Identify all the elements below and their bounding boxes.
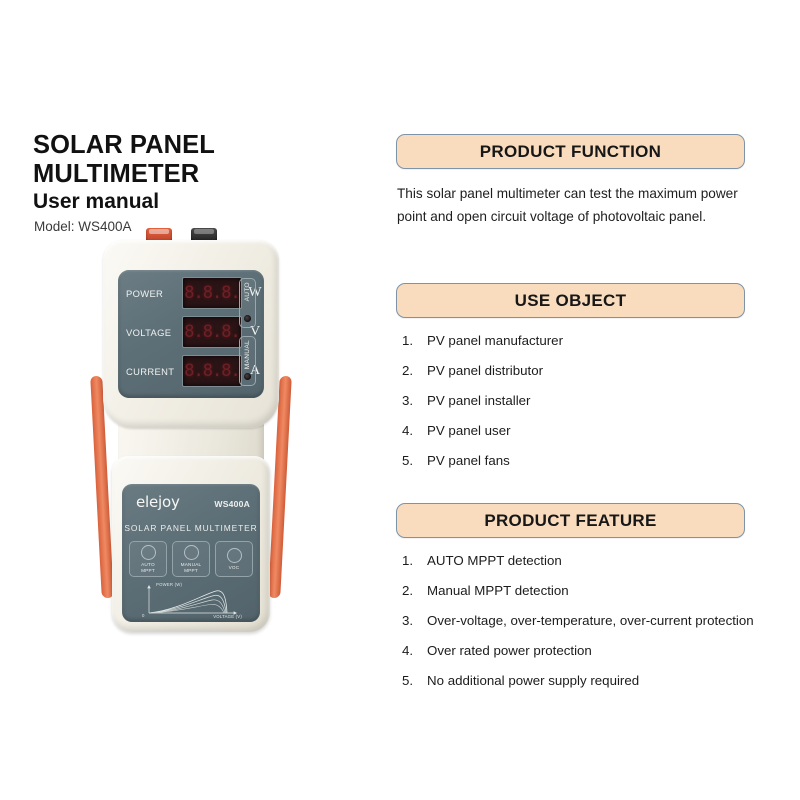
list-item-number: 3. (396, 391, 427, 412)
graph-y-axis-label: POWER (W) (156, 582, 182, 587)
section-header-product-feature-label: PRODUCT FEATURE (484, 511, 656, 531)
list-item: 1. PV panel manufacturer (396, 331, 788, 352)
list-item-text: Over-voltage, over-temperature, over-cur… (427, 611, 788, 632)
left-column: SOLAR PANEL MULTIMETER User manual Model… (0, 0, 390, 800)
graph-origin-label: 0 (142, 613, 144, 618)
list-item-text: AUTO MPPT detection (427, 551, 788, 572)
section-header-product-function: PRODUCT FUNCTION (396, 134, 745, 169)
list-item: 3. PV panel installer (396, 391, 788, 412)
led-display-power: 8.8.8. (182, 277, 242, 309)
list-item-text: PV panel user (427, 421, 788, 442)
mode-indicator-auto: AUTO (239, 278, 256, 328)
list-item: 4. Over rated power protection (396, 641, 788, 662)
list-item-text: Over rated power protection (427, 641, 788, 662)
page-subtitle: User manual (33, 190, 383, 214)
list-item-text: PV panel fans (427, 451, 788, 472)
mode-indicator-auto-label: AUTO (244, 282, 251, 301)
manual-led-icon (244, 373, 251, 380)
right-column: PRODUCT FUNCTION This solar panel multim… (396, 0, 800, 800)
led-digits-power: 8.8.8. (184, 285, 239, 302)
brand-logo: elejoy (136, 493, 180, 511)
graph-x-axis-label: VOLTAGE (V) (213, 614, 242, 619)
list-item: 1. AUTO MPPT detection (396, 551, 788, 572)
device-button-row: AUTO MPPT MANUAL MPPT (129, 541, 253, 577)
device-model-label: WS400A (214, 499, 250, 509)
manual-mppt-button-label-2: MPPT (181, 568, 202, 574)
measurement-label-current: CURRENT (126, 366, 182, 377)
list-item: 2. Manual MPPT detection (396, 581, 788, 602)
manual-page: SOLAR PANEL MULTIMETER User manual Model… (0, 0, 800, 800)
list-item-text: Manual MPPT detection (427, 581, 788, 602)
led-digits-voltage: 8.8.8. (184, 324, 239, 341)
negative-terminal-highlight (194, 229, 214, 234)
list-item: 5. PV panel fans (396, 451, 788, 472)
positive-terminal-highlight (149, 229, 169, 234)
control-panel: elejoy WS400A SOLAR PANEL MULTIMETER AUT… (122, 484, 260, 622)
measurement-label-voltage: VOLTAGE (126, 327, 182, 338)
list-item-number: 3. (396, 611, 427, 632)
auto-mppt-button-label-1: AUTO (141, 562, 155, 568)
list-item: 3. Over-voltage, over-temperature, over-… (396, 611, 788, 632)
measurement-label-power: POWER (126, 288, 182, 299)
list-item-text: PV panel distributor (427, 361, 788, 382)
device-type-label: SOLAR PANEL MULTIMETER (122, 523, 260, 533)
title-block: SOLAR PANEL MULTIMETER User manual Model… (33, 131, 383, 234)
list-item-number: 2. (396, 361, 427, 382)
section-header-product-feature: PRODUCT FEATURE (396, 503, 745, 538)
auto-led-icon (244, 315, 251, 322)
mode-indicator-manual: MANUAL (239, 336, 256, 386)
button-circle-icon (184, 545, 199, 560)
list-item-number: 5. (396, 671, 427, 692)
voc-button-label-1: VOC (229, 565, 240, 571)
section-header-use-object: USE OBJECT (396, 283, 745, 318)
section-header-use-object-label: USE OBJECT (515, 291, 627, 311)
mode-indicator-manual-label: MANUAL (244, 340, 251, 369)
manual-mppt-button[interactable]: MANUAL MPPT (172, 541, 210, 577)
list-item-text: No additional power supply required (427, 671, 788, 692)
auto-mppt-button[interactable]: AUTO MPPT (129, 541, 167, 577)
product-feature-list: 1. AUTO MPPT detection 2. Manual MPPT de… (396, 551, 788, 702)
list-item-number: 4. (396, 641, 427, 662)
device-illustration: POWER 8.8.8. W VOLTAGE 8.8.8. V CURRENT (96, 228, 286, 640)
list-item-number: 5. (396, 451, 427, 472)
led-digits-current: 8.8.8. (184, 363, 239, 380)
list-item-text: PV panel manufacturer (427, 331, 788, 352)
list-item: 5. No additional power supply required (396, 671, 788, 692)
led-display-voltage: 8.8.8. (182, 316, 242, 348)
use-object-list: 1. PV panel manufacturer 2. PV panel dis… (396, 331, 788, 482)
list-item-number: 4. (396, 421, 427, 442)
list-item-number: 2. (396, 581, 427, 602)
page-title: SOLAR PANEL MULTIMETER (33, 131, 383, 189)
button-circle-icon (227, 548, 242, 563)
product-function-paragraph: This solar panel multimeter can test the… (397, 182, 757, 229)
list-item-text: PV panel installer (427, 391, 788, 412)
manual-mppt-button-label-1: MANUAL (181, 562, 202, 568)
voc-button[interactable]: VOC (215, 541, 253, 577)
list-item-number: 1. (396, 331, 427, 352)
auto-mppt-button-label-2: MPPT (141, 568, 155, 574)
pv-curve-svg (140, 583, 244, 617)
button-circle-icon (141, 545, 156, 560)
section-header-product-function-label: PRODUCT FUNCTION (480, 142, 661, 162)
list-item-number: 1. (396, 551, 427, 572)
led-display-current: 8.8.8. (182, 355, 242, 387)
list-item: 2. PV panel distributor (396, 361, 788, 382)
list-item: 4. PV panel user (396, 421, 788, 442)
pv-curve-graph: POWER (W) VOLTAGE (V) 0 (140, 583, 244, 617)
display-panel: POWER 8.8.8. W VOLTAGE 8.8.8. V CURRENT (118, 270, 264, 398)
